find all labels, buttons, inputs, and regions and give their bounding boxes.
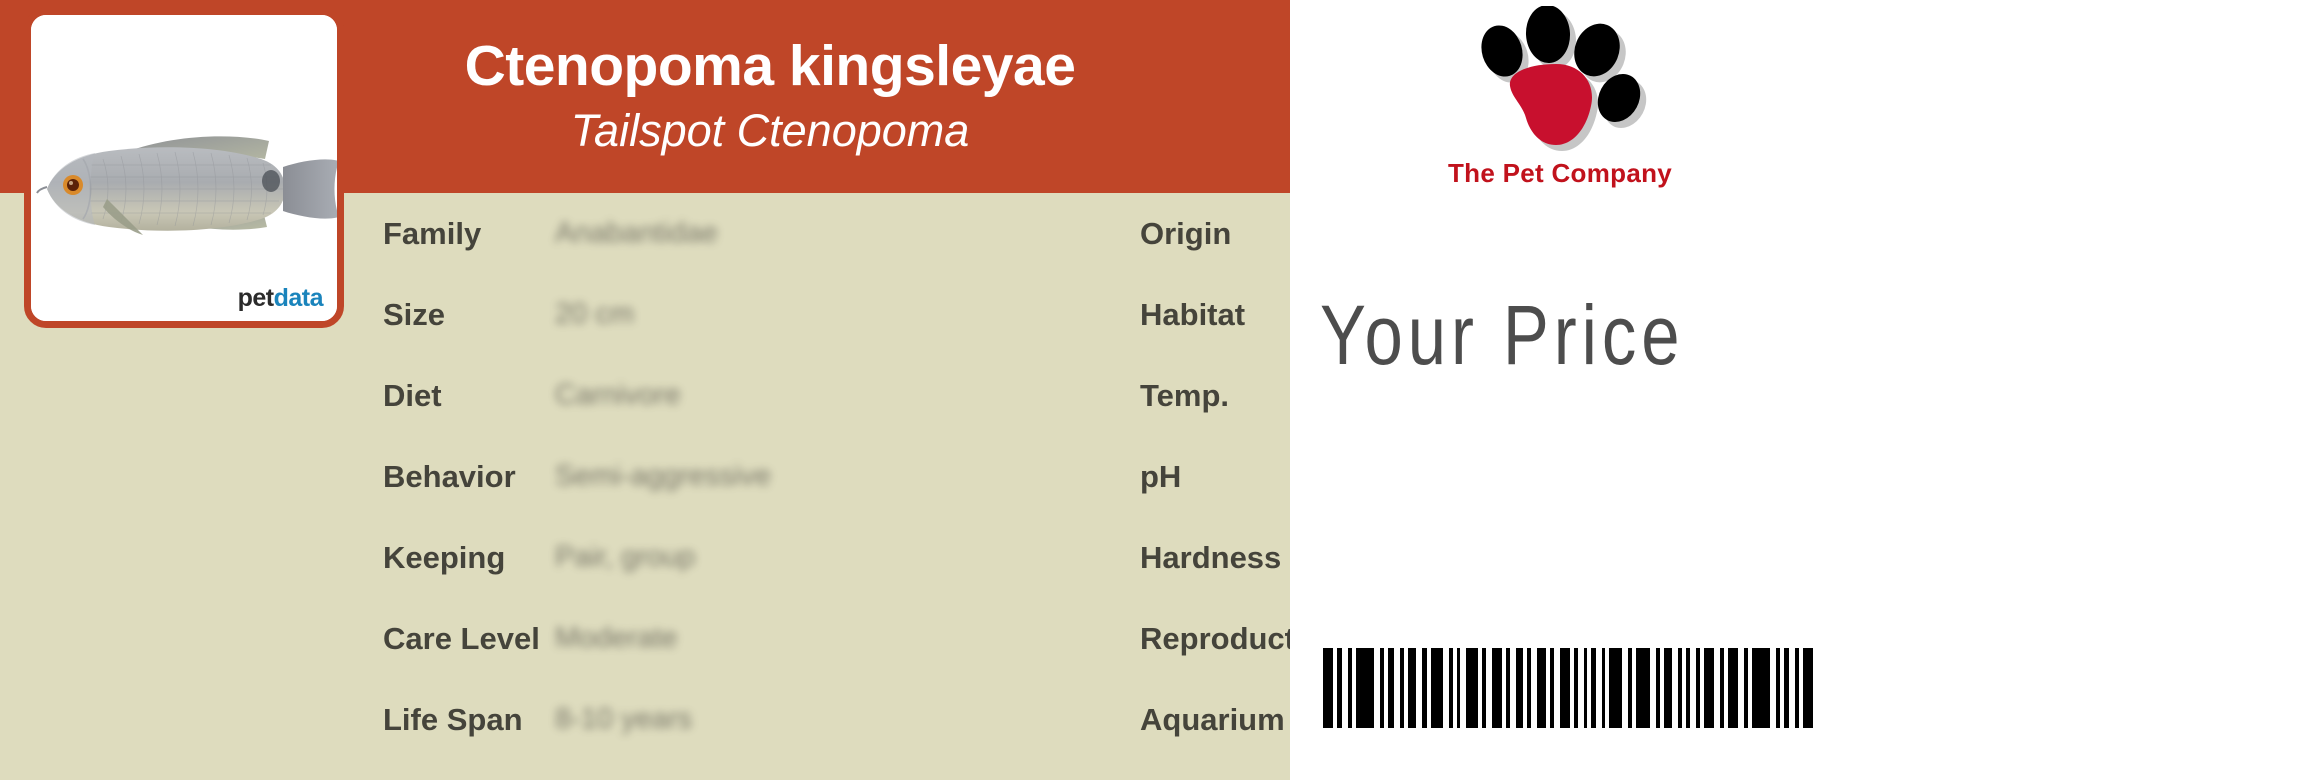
barcode-bar <box>1602 648 1605 728</box>
brand-block: The Pet Company <box>1340 6 1780 202</box>
barcode-bar <box>1388 648 1394 728</box>
price-panel: The Pet Company Your Price <box>1290 0 2303 780</box>
spec-row: OriginWestern and Central Africa <box>1140 193 1290 274</box>
species-photo-tile: petdata <box>24 8 344 328</box>
barcode-bar <box>1803 648 1813 728</box>
spec-label: Keeping <box>383 540 555 576</box>
spec-label: Family <box>383 216 555 252</box>
barcode-bar <box>1356 648 1374 728</box>
watermark-pet: pet <box>238 284 274 312</box>
barcode-bar <box>1776 648 1780 728</box>
barcode-bar <box>1431 648 1443 728</box>
spec-row: Hardness5-15 °dH <box>1140 517 1290 598</box>
spec-label: Origin <box>1140 216 1290 252</box>
barcode-bar <box>1728 648 1738 728</box>
spec-row: KeepingPair, group <box>383 517 903 598</box>
barcode-bar <box>1323 648 1333 728</box>
barcode-bar <box>1696 648 1700 728</box>
spec-value: Moderate <box>555 622 678 655</box>
barcode-bar <box>1527 648 1531 728</box>
barcode-bar <box>1422 648 1427 728</box>
your-price-label: Your Price <box>1320 287 1684 384</box>
spec-row: HabitatRivers, ponds <box>1140 274 1290 355</box>
spec-row: FamilyAnabantidae <box>383 193 903 274</box>
spec-label: Size <box>383 297 555 333</box>
spec-column-left: FamilyAnabantidaeSize20 cmDietCarnivoreB… <box>383 193 903 760</box>
spec-label: Care Level <box>383 621 555 657</box>
spec-value: Pair, group <box>555 541 695 574</box>
barcode-bar <box>1678 648 1682 728</box>
barcode-bar <box>1380 648 1384 728</box>
fish-illustration-icon <box>33 107 344 267</box>
spec-value: Carnivore <box>555 379 681 412</box>
petdata-watermark: petdata <box>238 286 323 311</box>
watermark-data: data <box>274 284 323 312</box>
barcode-bar <box>1408 648 1416 728</box>
barcode-bar <box>1720 648 1724 728</box>
barcode-bar <box>1449 648 1453 728</box>
barcode-bar <box>1550 648 1554 728</box>
spec-value: Anabantidae <box>555 217 718 250</box>
spec-label: Hardness <box>1140 540 1290 576</box>
common-name: Tailspot Ctenopoma <box>571 105 970 157</box>
spec-label: Habitat <box>1140 297 1290 333</box>
spec-label: Diet <box>383 378 555 414</box>
paw-print-logo-icon <box>1460 6 1675 161</box>
spec-row: Aquarium~ 400 l <box>1140 679 1290 760</box>
spec-label: Aquarium <box>1140 702 1290 738</box>
spec-row: DietCarnivore <box>383 355 903 436</box>
barcode-bar <box>1591 648 1596 728</box>
barcode-bar <box>1664 648 1672 728</box>
scientific-name: Ctenopoma kingsleyae <box>465 37 1076 97</box>
barcode-bar <box>1482 648 1486 728</box>
barcode-bar <box>1686 648 1690 728</box>
barcode-bar <box>1574 648 1578 728</box>
spec-row: Life Span8-10 years <box>383 679 903 760</box>
barcode-bar <box>1466 648 1478 728</box>
barcode-bar <box>1609 648 1622 728</box>
spec-label: pH <box>1140 459 1290 495</box>
barcode-bar <box>1628 648 1632 728</box>
barcode-bar <box>1457 648 1460 728</box>
barcode-bar <box>1752 648 1770 728</box>
spec-value: 20 cm <box>555 298 634 331</box>
spec-row: Care LevelModerate <box>383 598 903 679</box>
barcode-bar <box>1348 648 1352 728</box>
spec-row: BehaviorSemi-aggressive <box>383 436 903 517</box>
barcode-bar <box>1744 648 1748 728</box>
barcode-bar <box>1795 648 1799 728</box>
spec-value: 8-10 years <box>555 703 692 736</box>
barcode-bar <box>1337 648 1342 728</box>
title-block: Ctenopoma kingsleyae Tailspot Ctenopoma <box>250 0 1290 193</box>
barcode-bar <box>1537 648 1546 728</box>
barcode-bar <box>1516 648 1523 728</box>
spec-label: Reproduction <box>1140 621 1290 657</box>
barcode-bar <box>1400 648 1404 728</box>
species-photo: petdata <box>31 15 337 321</box>
spec-row: pH6.5-7.5 <box>1140 436 1290 517</box>
spec-value: Semi-aggressive <box>555 460 771 493</box>
spec-label: Life Span <box>383 702 555 738</box>
barcode-bar <box>1636 648 1650 728</box>
barcode-bar <box>1784 648 1789 728</box>
spec-label: Temp. <box>1140 378 1290 414</box>
spec-row: ReproductionEgg scatterer <box>1140 598 1290 679</box>
barcode-bar <box>1492 648 1502 728</box>
price-tag-page: Ctenopoma kingsleyae Tailspot Ctenopoma … <box>0 0 2303 780</box>
barcode-bar <box>1560 648 1570 728</box>
spec-row: Temp.22-28 °C <box>1140 355 1290 436</box>
barcode-bar <box>1584 648 1587 728</box>
barcode-bar <box>1704 648 1714 728</box>
brand-name: The Pet Company <box>1340 158 1780 189</box>
barcode-bar <box>1656 648 1660 728</box>
spec-label: Behavior <box>383 459 555 495</box>
spec-row: Size20 cm <box>383 274 903 355</box>
barcode <box>1323 648 1819 728</box>
barcode-bar <box>1506 648 1510 728</box>
spec-column-right: OriginWestern and Central AfricaHabitatR… <box>1140 193 1290 760</box>
